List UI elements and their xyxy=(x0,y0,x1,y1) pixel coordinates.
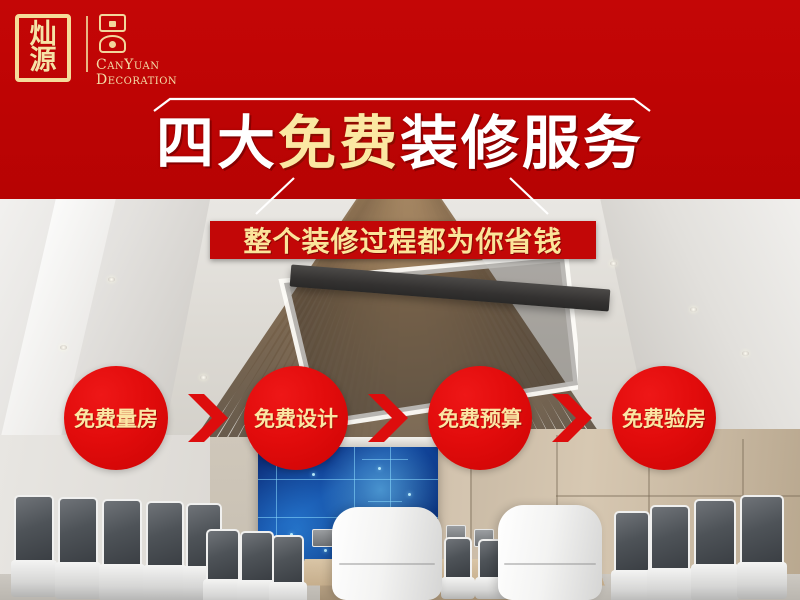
subtitle-ribbon: 整个装修过程都为你省钱 xyxy=(210,221,596,259)
audience-chair xyxy=(58,497,98,599)
step-badge-2[interactable]: 免费设计 xyxy=(244,366,348,470)
audience-chair xyxy=(614,511,650,600)
brand-divider xyxy=(86,16,88,72)
audience-chair xyxy=(102,499,142,600)
audience-chair xyxy=(740,495,784,599)
downlight-icon xyxy=(610,261,617,266)
seal-icon: 灿 源 xyxy=(12,10,78,88)
step-label-4: 免费验房 xyxy=(622,403,706,433)
brand-name: CanYuan Decoration xyxy=(96,58,177,88)
service-steps: 免费量房 免费设计 免费预算 免费验房 xyxy=(0,366,800,470)
chevron-right-arrow-icon xyxy=(186,392,228,444)
promo-banner: 灿 源 CanYuan Decoration 四大免费装修服务 xyxy=(0,0,800,600)
main-title: 四大免费装修服务 xyxy=(0,112,800,174)
ornamental-emblem-icon xyxy=(97,14,131,56)
step-badge-4[interactable]: 免费验房 xyxy=(612,366,716,470)
audience-chair xyxy=(272,535,304,600)
title-part-highlight: 免费 xyxy=(278,109,400,177)
desk-monitor xyxy=(312,529,334,547)
audience-chair xyxy=(146,501,184,600)
seal-char-2: 源 xyxy=(30,48,57,74)
title-frame-bottom-decoration xyxy=(152,176,652,216)
downlight-icon xyxy=(690,307,697,312)
downlight-icon xyxy=(108,277,115,282)
downlight-icon xyxy=(742,351,749,356)
chevron-right-arrow-icon xyxy=(550,392,592,444)
step-label-2: 免费设计 xyxy=(254,403,338,433)
step-badge-1[interactable]: 免费量房 xyxy=(64,366,168,470)
downlight-icon xyxy=(60,345,67,350)
audience-chair xyxy=(14,495,54,597)
title-part-2: 装修服务 xyxy=(400,109,644,177)
audience-chair xyxy=(694,499,736,600)
audience-chair xyxy=(650,505,690,600)
brand-name-line-1: CanYuan xyxy=(96,58,177,73)
chevron-right-arrow-icon xyxy=(366,392,408,444)
brand-logo[interactable]: 灿 源 CanYuan Decoration xyxy=(12,10,177,88)
step-label-1: 免费量房 xyxy=(74,403,158,433)
subtitle-text: 整个装修过程都为你省钱 xyxy=(243,220,562,260)
executive-chair xyxy=(332,507,442,600)
audience-chair xyxy=(444,537,472,599)
audience-chair xyxy=(206,529,240,600)
step-label-3: 免费预算 xyxy=(438,403,522,433)
title-part-1: 四大 xyxy=(156,109,278,177)
brand-name-line-2: Decoration xyxy=(96,73,177,88)
executive-chair xyxy=(498,505,602,600)
step-badge-3[interactable]: 免费预算 xyxy=(428,366,532,470)
